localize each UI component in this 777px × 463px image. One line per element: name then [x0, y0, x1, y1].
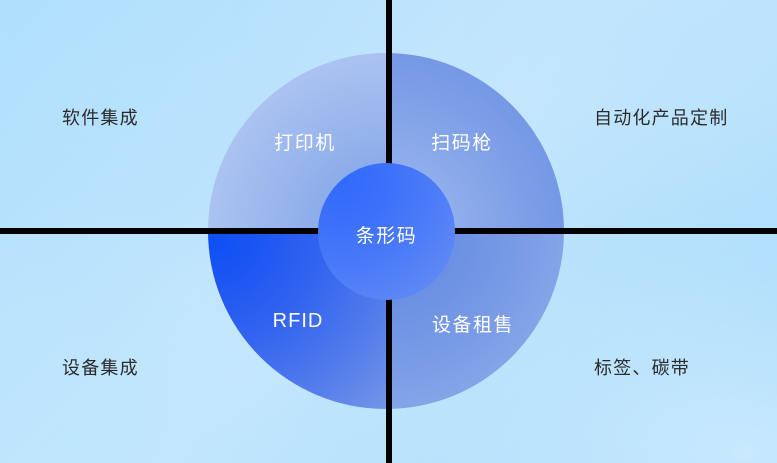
- corner-label-software-integration: 软件集成: [62, 104, 139, 130]
- wheel-label-rfid: RFID: [248, 310, 348, 333]
- corner-label-automation-customization: 自动化产品定制: [594, 104, 728, 130]
- corner-label-equipment-integration: 设备集成: [62, 354, 139, 380]
- wheel-label-rental: 设备租售: [418, 310, 528, 337]
- center-hub-label: 条形码: [318, 221, 455, 248]
- wheel-label-printer: 打印机: [250, 128, 360, 155]
- wheel-label-scanner: 扫码枪: [412, 128, 512, 155]
- diagram-canvas: 条形码 打印机 扫码枪 RFID 设备租售 软件集成 自动化产品定制 设备集成 …: [0, 0, 777, 463]
- corner-label-labels-ribbons: 标签、碳带: [594, 354, 690, 380]
